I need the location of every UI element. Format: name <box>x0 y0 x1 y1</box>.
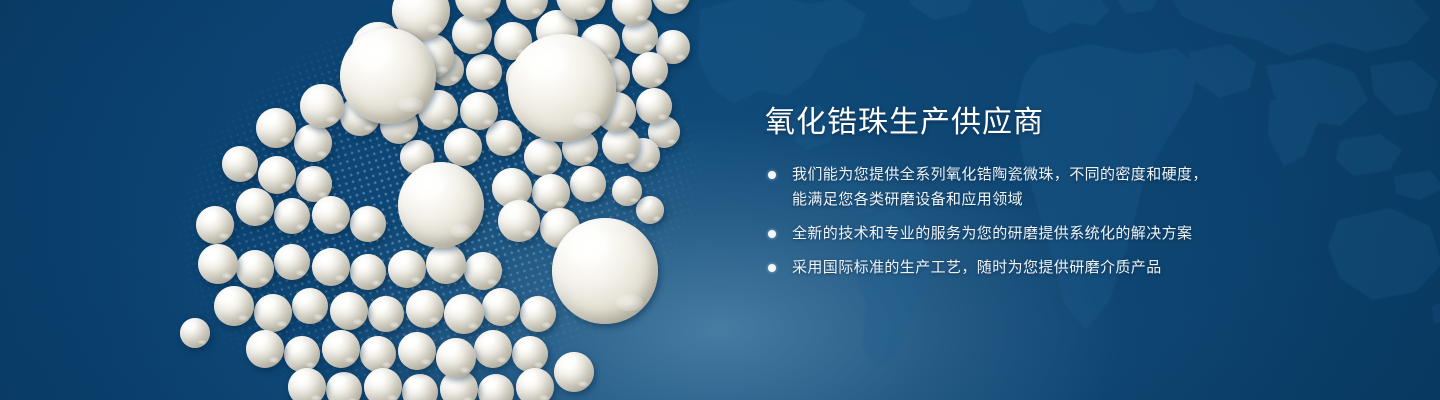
zirconia-bead <box>312 248 350 286</box>
zirconia-bead <box>532 174 570 212</box>
zirconia-bead <box>284 336 320 372</box>
zirconia-bead <box>474 330 512 368</box>
zirconia-bead <box>466 54 502 90</box>
zirconia-bead <box>322 330 360 368</box>
zirconia-bead <box>398 332 436 370</box>
bullet-item-1: 我们能为您提供全系列氧化锆陶瓷微珠，不同的密度和硬度， 能满足您各类研磨设备和应… <box>765 162 1405 212</box>
zirconia-bead <box>444 294 484 334</box>
zirconia-bead <box>300 84 344 128</box>
banner-copy: 氧化锆珠生产供应商 我们能为您提供全系列氧化锆陶瓷微珠，不同的密度和硬度， 能满… <box>765 106 1405 280</box>
zirconia-bead <box>254 294 292 332</box>
zirconia-bead <box>222 146 258 182</box>
bullet-dot-icon <box>768 171 776 179</box>
bullet-line-1: 全新的技术和专业的服务为您的研磨提供系统化的解决方案 <box>792 225 1192 242</box>
zirconia-bead <box>452 14 492 54</box>
zirconia-bead <box>552 218 658 324</box>
zirconia-bead <box>512 336 548 372</box>
zirconia-bead <box>464 252 502 290</box>
bullet-dot-icon <box>768 264 776 272</box>
zirconia-bead <box>196 206 234 244</box>
zirconia-bead <box>460 92 498 130</box>
zirconia-bead <box>274 198 310 234</box>
bullet-line-1: 我们能为您提供全系列氧化锆陶瓷微珠，不同的密度和硬度， <box>792 166 1208 183</box>
zirconia-bead <box>402 374 438 400</box>
zirconia-bead <box>478 374 514 400</box>
zirconia-bead <box>180 318 210 348</box>
zirconia-bead <box>350 206 386 242</box>
zirconia-bead <box>516 368 554 400</box>
zirconia-bead <box>406 290 444 328</box>
zirconia-bead <box>294 124 332 162</box>
zirconia-bead <box>330 292 368 330</box>
zirconia-bead <box>508 34 616 142</box>
zirconia-bead <box>292 288 328 324</box>
zirconia-bead <box>236 250 274 288</box>
hero-banner: 氧化锆珠生产供应商 我们能为您提供全系列氧化锆陶瓷微珠，不同的密度和硬度， 能满… <box>0 0 1440 400</box>
zirconia-bead <box>368 296 404 332</box>
zirconia-bead <box>246 330 284 368</box>
zirconia-bead <box>554 352 594 392</box>
zirconia-bead <box>498 200 540 242</box>
bullet-item-3: 采用国际标准的生产工艺，随时为您提供研磨介质产品 <box>765 255 1405 280</box>
zirconia-bead <box>288 368 326 400</box>
bullet-dot-icon <box>768 230 776 238</box>
zirconia-bead <box>326 372 362 400</box>
zirconia-bead <box>340 28 436 124</box>
zirconia-bead <box>364 368 402 400</box>
bullet-item-2: 全新的技术和专业的服务为您的研磨提供系统化的解决方案 <box>765 221 1405 246</box>
zirconia-bead <box>482 288 520 326</box>
zirconia-bead <box>398 162 484 248</box>
zirconia-bead <box>214 286 254 326</box>
zirconia-bead-cluster <box>0 0 760 400</box>
zirconia-bead <box>632 52 668 88</box>
zirconia-bead <box>388 250 426 288</box>
zirconia-bead <box>444 128 482 166</box>
zirconia-bead <box>236 188 274 226</box>
zirconia-bead <box>636 88 672 124</box>
zirconia-bead <box>652 0 690 14</box>
zirconia-bead <box>426 244 466 284</box>
bullet-line-1: 采用国际标准的生产工艺，随时为您提供研磨介质产品 <box>792 259 1162 276</box>
zirconia-bead <box>524 138 562 176</box>
zirconia-bead <box>312 196 350 234</box>
zirconia-bead <box>636 196 664 224</box>
banner-headline: 氧化锆珠生产供应商 <box>765 106 1405 140</box>
zirconia-bead <box>570 166 606 202</box>
bullet-line-2: 能满足您各类研磨设备和应用领域 <box>792 187 1405 212</box>
zirconia-bead <box>256 108 296 148</box>
zirconia-bead <box>436 338 476 378</box>
zirconia-bead <box>602 126 640 164</box>
zirconia-bead <box>274 244 310 280</box>
zirconia-bead <box>360 336 396 372</box>
zirconia-bead <box>198 244 238 284</box>
zirconia-bead <box>612 176 642 206</box>
zirconia-bead <box>258 156 296 194</box>
banner-bullet-list: 我们能为您提供全系列氧化锆陶瓷微珠，不同的密度和硬度， 能满足您各类研磨设备和应… <box>765 162 1405 280</box>
zirconia-bead <box>350 254 386 290</box>
zirconia-bead <box>520 296 556 332</box>
